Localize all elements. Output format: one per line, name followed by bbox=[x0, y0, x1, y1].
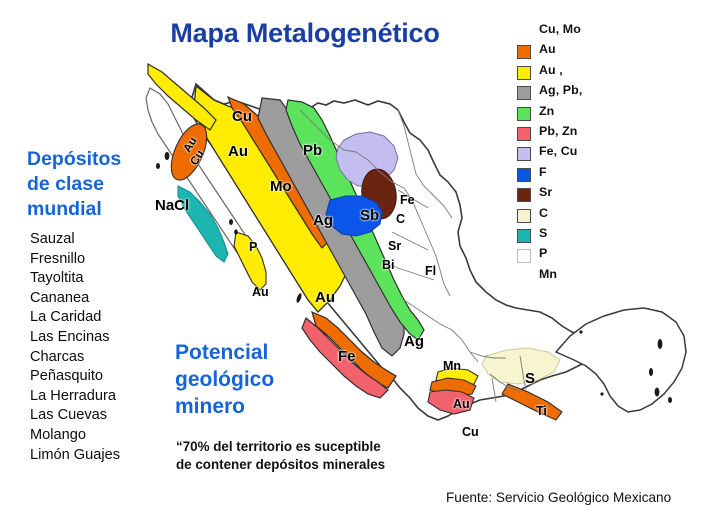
legend-row[interactable]: Sr bbox=[505, 185, 625, 205]
page-title: Mapa Metalogenético bbox=[140, 18, 470, 49]
legend-swatch bbox=[517, 229, 531, 243]
legend-swatch bbox=[517, 45, 531, 59]
deposit-list: SauzalFresnilloTayoltitaCananeaLa Carida… bbox=[30, 230, 180, 465]
legend-row[interactable]: F bbox=[505, 165, 625, 185]
legend-row[interactable]: Ag, Pb, bbox=[505, 83, 625, 103]
legend-label: Zn bbox=[539, 104, 554, 118]
deposit-item: Fresnillo bbox=[30, 250, 180, 270]
legend-row[interactable]: Au bbox=[505, 42, 625, 62]
legend-swatch bbox=[517, 209, 531, 223]
legend-swatch bbox=[517, 127, 531, 141]
deposit-item: La Herradura bbox=[30, 387, 180, 407]
deposit-item: Molango bbox=[30, 426, 180, 446]
legend-label: F bbox=[539, 165, 547, 179]
quote-line-2: de contener depósitos minerales bbox=[176, 456, 476, 474]
legend-label: Fe, Cu bbox=[539, 144, 577, 158]
legend-label: C bbox=[539, 206, 548, 220]
legend-row[interactable]: Zn bbox=[505, 104, 625, 124]
deposit-item: Las Encinas bbox=[30, 328, 180, 348]
deposit-item: Charcas bbox=[30, 348, 180, 368]
zone-baja-sur-yellow bbox=[234, 232, 266, 290]
legend-label: Sr bbox=[539, 185, 552, 199]
map-legend: Cu, MoAuAu ,Ag, Pb,ZnPb, ZnFe, CuFSrCSPM… bbox=[505, 8, 625, 308]
legend-swatch bbox=[517, 66, 531, 80]
legend-swatch bbox=[517, 168, 531, 182]
legend-row[interactable]: C bbox=[505, 206, 625, 226]
deposit-item: La Caridad bbox=[30, 308, 180, 328]
potential-line-1: Potencial bbox=[175, 339, 335, 366]
legend-label: Au , bbox=[539, 63, 563, 77]
deposit-item: Tayoltita bbox=[30, 269, 180, 289]
deposit-item: Cananea bbox=[30, 289, 180, 309]
slide-canvas: CuAuMoPbAgNaClAuCuPAuSbFeCSrBiFlAuFeAgMn… bbox=[0, 0, 714, 519]
legend-row[interactable]: Cu, Mo bbox=[505, 22, 625, 42]
potential-quote: “70% del territorio es suceptible de con… bbox=[176, 438, 476, 474]
deposit-item: Limón Guajes bbox=[30, 446, 180, 466]
legend-label: Pb, Zn bbox=[539, 124, 577, 138]
legend-row[interactable]: P bbox=[505, 246, 625, 266]
legend-swatch bbox=[517, 188, 531, 202]
yucatan-outline bbox=[556, 308, 686, 412]
legend-swatch bbox=[517, 86, 531, 100]
legend-row[interactable]: Mn bbox=[505, 267, 625, 287]
legend-row[interactable]: Fe, Cu bbox=[505, 144, 625, 164]
legend-label: Mn bbox=[539, 267, 557, 281]
heading-line-2: de clase bbox=[27, 172, 177, 197]
zone-ti-orange-bar bbox=[502, 384, 562, 420]
legend-label: Cu, Mo bbox=[539, 22, 581, 36]
legend-swatch bbox=[517, 107, 531, 121]
legend-label: P bbox=[539, 246, 547, 260]
legend-swatch bbox=[517, 249, 531, 263]
legend-row[interactable]: Pb, Zn bbox=[505, 124, 625, 144]
potential-heading: Potencial geológico minero bbox=[175, 339, 335, 420]
heading-line-3: mundial bbox=[27, 197, 177, 222]
legend-row[interactable]: Au , bbox=[505, 63, 625, 83]
legend-label: S bbox=[539, 226, 547, 240]
potential-line-2: geológico bbox=[175, 366, 335, 393]
potential-line-3: minero bbox=[175, 393, 335, 420]
deposit-item: Peñasquito bbox=[30, 367, 180, 387]
legend-label: Ag, Pb, bbox=[539, 83, 582, 97]
heading-line-1: Depósitos bbox=[27, 147, 177, 172]
source-credit: Fuente: Servicio Geológico Mexicano bbox=[446, 490, 671, 505]
deposit-item: Las Cuevas bbox=[30, 406, 180, 426]
left-panel-heading: Depósitos de clase mundial bbox=[27, 147, 177, 222]
quote-line-1: “70% del territorio es suceptible bbox=[176, 438, 476, 456]
legend-swatch bbox=[517, 147, 531, 161]
deposit-item: Sauzal bbox=[30, 230, 180, 250]
legend-row[interactable]: S bbox=[505, 226, 625, 246]
legend-label: Au bbox=[539, 42, 556, 56]
